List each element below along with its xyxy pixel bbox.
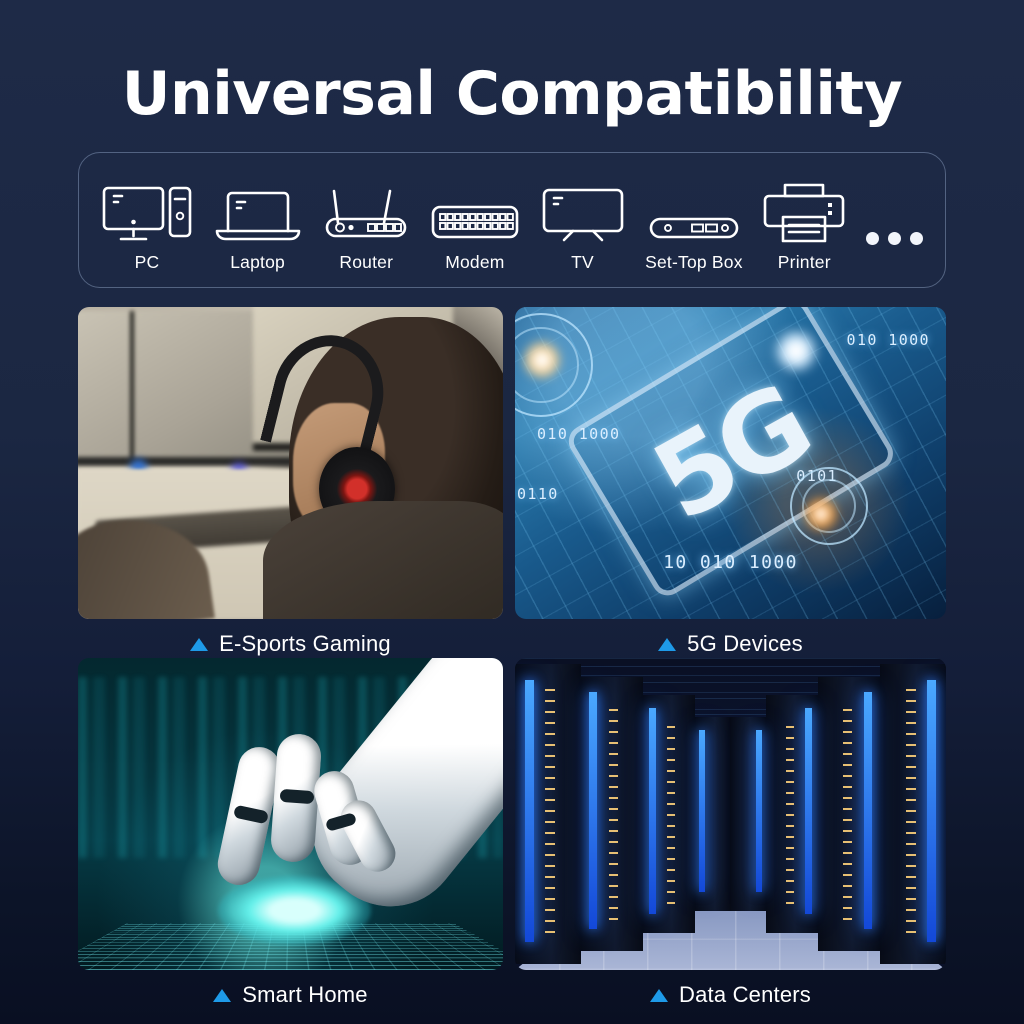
device-compatibility-panel: PC Laptop	[78, 152, 946, 288]
rack-neon-light	[589, 692, 597, 929]
ellipsis-icon[interactable]	[866, 232, 923, 273]
binary-label: 010 1000	[847, 331, 930, 349]
rack-status-leds	[609, 702, 618, 920]
player-shoulder	[263, 501, 503, 619]
caption-text: Data Centers	[679, 982, 811, 1008]
caption-data-centers: Data Centers	[515, 981, 946, 1009]
finger-joint	[280, 789, 315, 804]
desktop-pc-icon	[101, 181, 193, 243]
gallery-card-smart-home[interactable]: Smart Home	[78, 658, 503, 1009]
caption-esports-gaming: E-Sports Gaming	[78, 630, 503, 658]
device-label-router: Router	[339, 252, 393, 273]
router-icon	[322, 181, 410, 243]
device-label-tv: TV	[571, 252, 594, 273]
gallery-card-data-centers[interactable]: Data Centers	[515, 658, 946, 1009]
rack-status-leds	[843, 702, 852, 920]
rack-neon-light	[525, 680, 534, 942]
rack-neon-light	[927, 680, 936, 942]
device-item-router[interactable]: Router	[322, 181, 410, 273]
device-label-printer: Printer	[778, 252, 831, 273]
triangle-marker-icon	[658, 638, 676, 651]
device-item-modem[interactable]: Modem	[430, 181, 520, 273]
gallery-card-5g-devices[interactable]: 5G 010 1000 010 1000 0101 0110 10 010 10…	[515, 307, 946, 658]
rack-neon-light	[699, 730, 705, 892]
photo-data-centers	[515, 658, 946, 970]
rack-status-leds	[786, 717, 794, 904]
device-label-modem: Modem	[445, 252, 504, 273]
ellipsis-dot	[910, 232, 923, 245]
binary-label: 10 010 1000	[663, 552, 798, 573]
device-label-laptop: Laptop	[230, 252, 285, 273]
photo-esports-gaming	[78, 307, 503, 619]
triangle-marker-icon	[213, 989, 231, 1002]
caption-text: E-Sports Gaming	[219, 631, 391, 657]
ellipsis-dot	[866, 232, 879, 245]
binary-label: 010 1000	[537, 425, 620, 443]
rack-neon-light	[756, 730, 762, 892]
laptop-icon	[213, 181, 303, 243]
ellipsis-dot	[888, 232, 901, 245]
rack-status-leds	[667, 717, 675, 904]
set-top-box-icon	[648, 181, 740, 243]
rack-status-leds	[545, 689, 555, 932]
rack-neon-light	[805, 708, 812, 914]
lens-flare	[774, 329, 818, 373]
triangle-marker-icon	[190, 638, 208, 651]
triangle-marker-icon	[650, 989, 668, 1002]
caption-5g-devices: 5G Devices	[515, 630, 946, 658]
poster-root: Universal Compatibility PC	[0, 0, 1024, 1024]
device-item-tv[interactable]: TV	[540, 181, 626, 273]
device-item-laptop[interactable]: Laptop	[213, 181, 303, 273]
photo-5g-devices: 5G 010 1000 010 1000 0101 0110 10 010 10…	[515, 307, 946, 619]
rack-status-leds	[906, 689, 916, 932]
device-label-pc: PC	[135, 252, 160, 273]
device-item-printer[interactable]: Printer	[762, 181, 846, 273]
modem-icon	[430, 181, 520, 243]
lens-flare	[523, 341, 561, 379]
device-icon-row: PC Laptop	[79, 153, 945, 287]
rack-neon-light	[649, 708, 656, 914]
gallery-card-esports-gaming[interactable]: E-Sports Gaming	[78, 307, 503, 658]
caption-smart-home: Smart Home	[78, 981, 503, 1009]
tv-icon	[540, 181, 626, 243]
device-label-set-top-box: Set-Top Box	[645, 252, 743, 273]
printer-icon	[762, 181, 846, 243]
rack-neon-light	[864, 692, 872, 929]
binary-label: 0110	[517, 485, 559, 503]
page-title: Universal Compatibility	[0, 59, 1024, 129]
photo-smart-home	[78, 658, 503, 970]
caption-text: Smart Home	[242, 982, 367, 1008]
caption-text: 5G Devices	[687, 631, 803, 657]
device-item-set-top-box[interactable]: Set-Top Box	[645, 181, 743, 273]
device-item-pc[interactable]: PC	[101, 181, 193, 273]
orange-flare	[804, 497, 838, 531]
